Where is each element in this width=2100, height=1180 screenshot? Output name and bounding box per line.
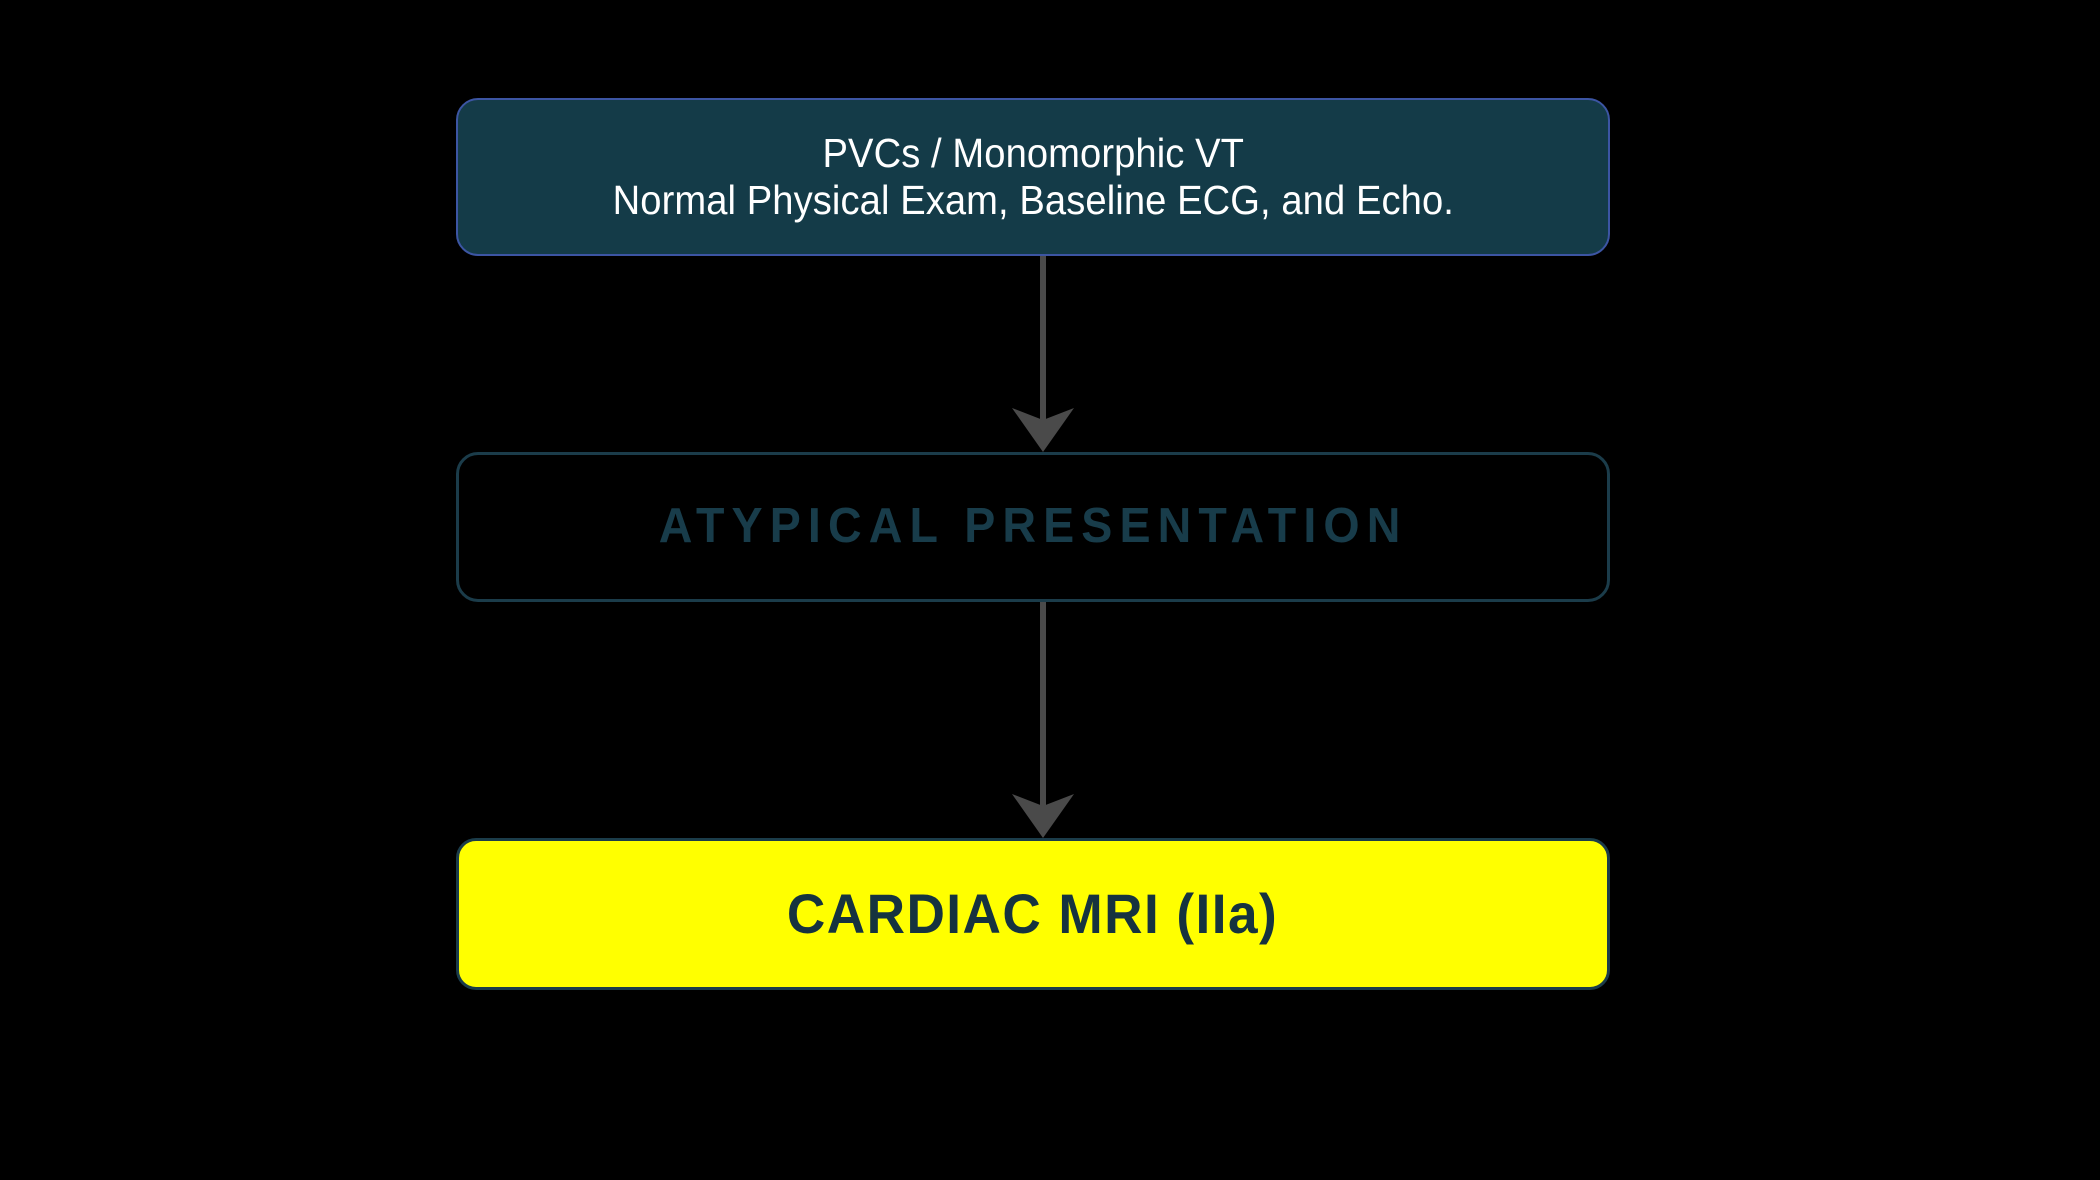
node-atypical-presentation[interactable]: ATYPICAL PRESENTATION — [456, 452, 1610, 602]
edge-stage-recommendation-arrow — [1012, 602, 1074, 838]
node-cardiac-mri-recommendation-label: CARDIAC MRI (IIa) — [787, 883, 1278, 945]
node-cardiac-mri-recommendation[interactable]: CARDIAC MRI (IIa) — [456, 838, 1610, 990]
node-clinical-scenario[interactable]: PVCs / Monomorphic VT Normal Physical Ex… — [456, 98, 1610, 256]
node-clinical-scenario-label: PVCs / Monomorphic VT Normal Physical Ex… — [612, 130, 1453, 224]
edge-source-stage-arrow — [1012, 256, 1074, 452]
node-atypical-presentation-label: ATYPICAL PRESENTATION — [659, 500, 1408, 554]
flowchart-canvas: PVCs / Monomorphic VT Normal Physical Ex… — [0, 0, 2100, 1180]
